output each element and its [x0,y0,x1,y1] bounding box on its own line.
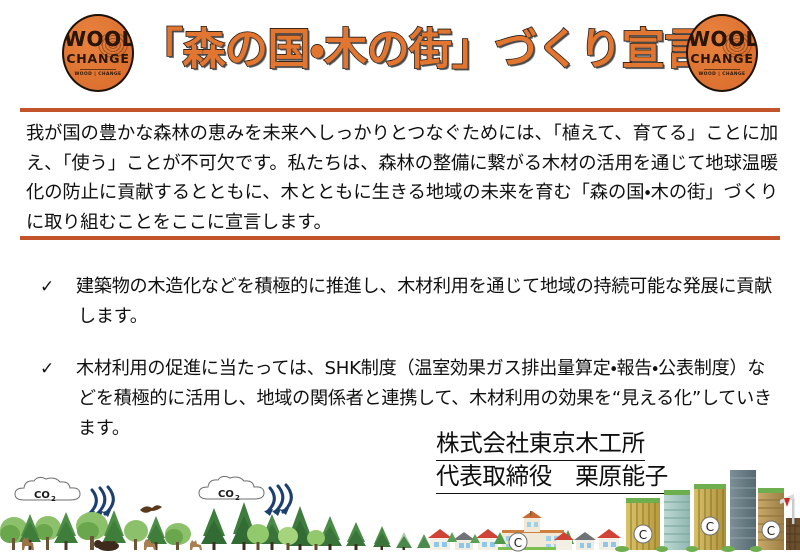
logo-disc: WOOD CHANGE WOOD | CHANGE [62,14,134,92]
co2-cloud-right: CO 2 [199,476,264,502]
page-title: 「森の国・木の街」づくり宣言 [140,20,668,80]
list-item-text: 木材利用の促進に当たっては、SHK制度（温室効果ガス排出量算定・報告・公表制度）… [78,354,778,444]
carbon-marker: C [509,533,527,551]
houses-cluster-2 [574,529,621,550]
bird-icon [140,505,162,513]
high-rise-tower [730,470,756,550]
wood-change-logo-left: WOOD CHANGE WOOD | CHANGE [62,14,134,92]
carbon-marker: C [634,525,652,543]
svg-text:CO: CO [34,490,50,501]
svg-text:C: C [639,528,647,542]
carbon-marker: C [762,521,780,539]
forest-to-city-illustration: CO 2 CO 2 [0,468,800,554]
svg-text:C: C [706,520,714,534]
absorption-arrows-left [89,487,113,514]
absorption-arrows-right [267,485,291,512]
divider-top [20,108,780,112]
logo-wordmark: WOOD [688,29,756,49]
logo-disc: WOOD CHANGE WOOD | CHANGE [686,14,758,92]
carbon-marker: C [701,517,719,535]
logo-footnote: WOOD | CHANGE [688,71,756,78]
timber-tower-1: C [626,498,660,550]
timber-tower-3: C [758,488,784,550]
svg-text:C: C [767,524,775,538]
checkmark-icon: ✓ [36,272,78,302]
houses-cluster [428,529,500,550]
forest-broadleaf [0,510,202,551]
logo-subline: CHANGE [688,52,756,65]
deer-icon-3 [190,540,202,550]
logo-footnote: WOOD | CHANGE [64,71,132,78]
co2-cloud-left: CO 2 [15,477,80,503]
house [574,532,596,550]
logo-wordmark: WOOD [64,29,132,49]
list-item-text: 建築物の木造化などを積極的に推進し、木材利用を通じて地域の持続可能な発展に貢献し… [78,272,778,332]
timber-tower-2: C [694,484,726,550]
declaration-paragraph: 我が国の豊かな森林の恵みを未来へしっかりとつなぐためには、「植えて、育てる」こと… [26,119,778,237]
svg-text:2: 2 [51,495,56,503]
logo-divider [80,69,116,70]
svg-text:C: C [514,536,522,550]
school-building: C [494,511,574,551]
logo-divider [704,69,740,70]
forest-conifer [201,502,431,550]
svg-text:2: 2 [235,494,240,502]
office-tower-glass [664,490,690,550]
svg-text:CO: CO [218,489,234,500]
wood-change-logo-right: WOOD CHANGE WOOD | CHANGE [686,14,758,92]
logo-subline: CHANGE [64,52,132,65]
document-header: WOOD CHANGE WOOD | CHANGE 「森の国・木の街」づくり宣言… [0,0,800,102]
checkmark-icon: ✓ [36,354,78,384]
list-item: ✓ 建築物の木造化などを積極的に推進し、木材利用を通じて地域の持続可能な発展に貢… [36,272,778,332]
signature-company: 株式会社東京木工所 [436,428,645,461]
